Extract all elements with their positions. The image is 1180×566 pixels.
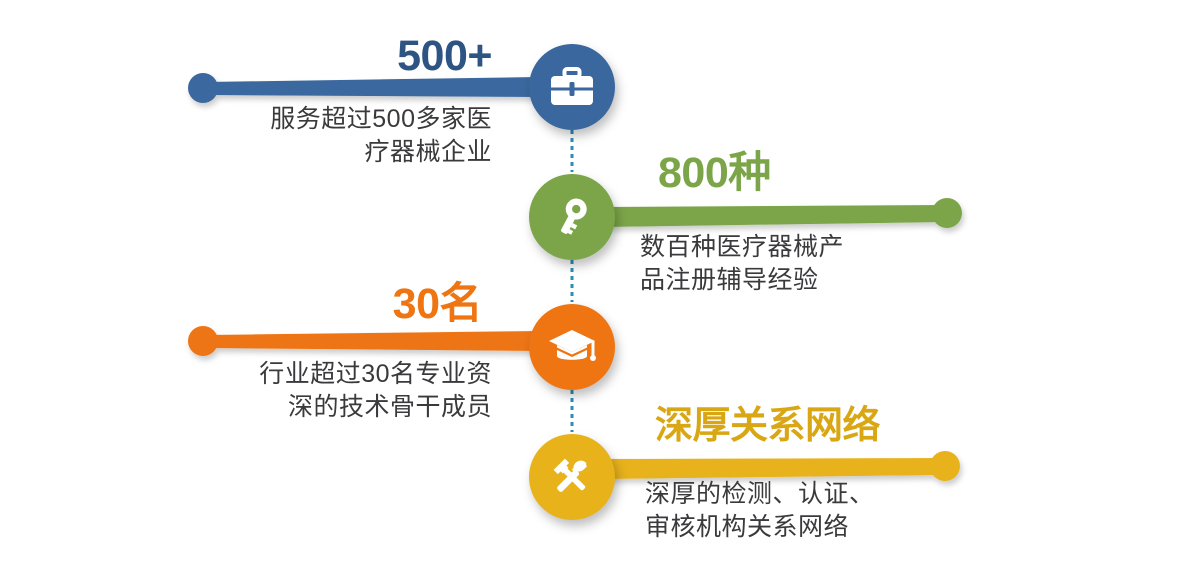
- briefcase-icon: [549, 67, 595, 107]
- infographic-canvas: 500+ 服务超过500多家医 疗器械企业 800种 数百种医疗器械产 品注册辅…: [0, 0, 1180, 566]
- connector-green: [604, 198, 962, 228]
- headline-network: 深厚关系网络: [655, 407, 985, 445]
- headline-clients: 500+: [200, 35, 492, 78]
- node-network[interactable]: [529, 434, 615, 520]
- graduation-cap-icon: [547, 327, 597, 367]
- key-icon: [550, 195, 594, 239]
- headline-products: 800种: [658, 152, 978, 195]
- node-products[interactable]: [529, 174, 615, 260]
- description-products: 数百种医疗器械产 品注册辅导经验: [640, 231, 970, 298]
- tools-icon: [549, 454, 595, 500]
- description-experts: 行业超过30名专业资 深的技术骨干成员: [180, 358, 492, 425]
- description-clients: 服务超过500多家医 疗器械企业: [180, 103, 492, 170]
- description-network: 深厚的检测、认证、 审核机构关系网络: [645, 478, 985, 545]
- connector-yellow: [604, 451, 960, 481]
- node-clients[interactable]: [529, 44, 615, 130]
- node-experts[interactable]: [529, 304, 615, 390]
- connector-orange: [188, 326, 540, 356]
- headline-experts: 30名: [200, 283, 482, 326]
